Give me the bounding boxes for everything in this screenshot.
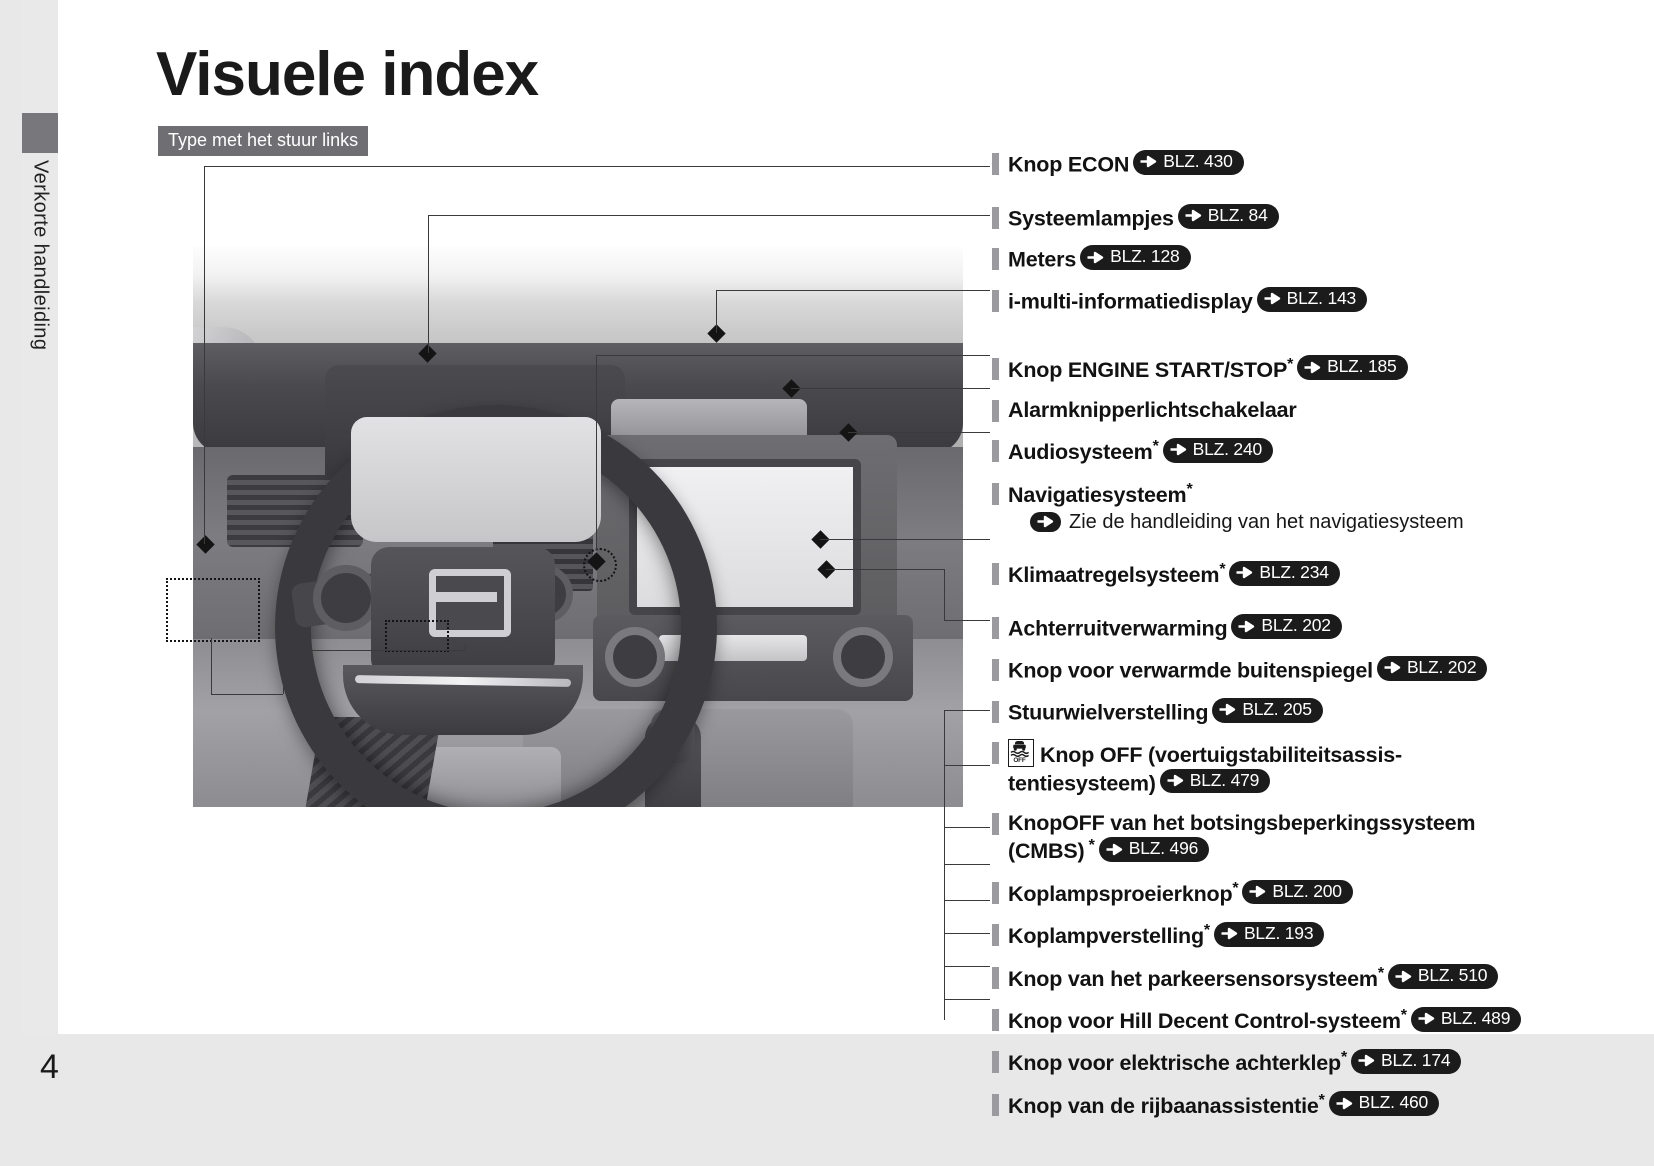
arrow-right-icon (1167, 442, 1189, 457)
callout-text: Knop ECONBLZ. 430 (1008, 150, 1244, 178)
sidebar-chapter-label: Verkorte handleiding (22, 160, 58, 420)
arrow-right-icon (1392, 969, 1414, 984)
callout-tick (992, 617, 999, 639)
callout-label: Achterruitverwarming (1008, 617, 1227, 641)
callout-label: Navigatiesysteem (1008, 483, 1186, 507)
callout-label-line2: (CMBS) (1008, 840, 1084, 864)
callout-knop-off-cmbs[interactable]: KnopOFF van het botsingsbeperkingssystee… (992, 810, 1612, 865)
arrow-right-icon (1084, 250, 1106, 265)
arrow-right-icon (1164, 773, 1186, 788)
page-ref-text: BLZ. 205 (1242, 699, 1311, 721)
callout-text: Koplampsproeierknop*BLZ. 200 (1008, 879, 1353, 907)
page-ref-text: BLZ. 479 (1190, 770, 1259, 792)
page-ref-pill[interactable]: BLZ. 143 (1257, 287, 1367, 312)
callout-text: OFFKnop OFF (voertuigstabiliteitsassis-t… (1008, 739, 1402, 796)
callout-text: Klimaatregelsysteem*BLZ. 234 (1008, 560, 1340, 588)
type-badge: Type met het stuur links (158, 126, 368, 156)
arrow-right-icon (1034, 514, 1056, 529)
callout-label-line1: KnopOFF van het botsingsbeperkingssystee… (1008, 811, 1475, 835)
callout-label-line2: tentiesysteem) (1008, 771, 1156, 795)
leader-econ-horizontal (204, 166, 990, 167)
marker-circle-stuurwiel (583, 548, 617, 582)
page-ref-text: BLZ. 234 (1259, 562, 1328, 584)
leader-vsa-mid-horizontal (283, 650, 465, 651)
leader-imid-horizontal (716, 290, 990, 291)
leader-vsa-mid-vertical (283, 650, 284, 694)
arrow-right-icon (1235, 619, 1257, 634)
callout-meters[interactable]: MetersBLZ. 128 (992, 245, 1612, 273)
callout-tick (992, 813, 999, 835)
leader-alarm-horizontal (791, 388, 990, 389)
airbag-cover (351, 417, 601, 542)
optional-star: * (1287, 356, 1293, 373)
arrow-right-icon (1301, 360, 1323, 375)
callout-tick (992, 924, 999, 946)
callout-label: Alarmknipperlichtschakelaar (1008, 398, 1297, 422)
callout-tick (992, 358, 999, 380)
callout-knop-off-vsa[interactable]: OFFKnop OFF (voertuigstabiliteitsassis-t… (992, 739, 1612, 796)
callout-tick (992, 440, 999, 462)
page-ref-pill[interactable]: BLZ. 174 (1351, 1049, 1461, 1074)
callout-label: Knop voor Hill Decent Control-systeem (1008, 1009, 1401, 1033)
leader-achterruit-vertical (944, 569, 945, 620)
leader-buitenspiegel-horizontal (944, 620, 990, 621)
optional-star: * (1186, 481, 1192, 498)
leader-achterruit-horizontal (826, 569, 944, 570)
page-ref-text: BLZ. 202 (1407, 657, 1476, 679)
page-ref-text: BLZ. 84 (1208, 205, 1268, 227)
callout-audiosysteem[interactable]: Audiosysteem*BLZ. 240 (992, 437, 1612, 465)
callout-label: Koplampverstelling (1008, 924, 1204, 948)
page-ref-text: BLZ. 128 (1110, 246, 1179, 268)
leader-stuurwiel-horizontal (596, 355, 990, 356)
callout-systeemlampjes[interactable]: SysteemlampjesBLZ. 84 (992, 204, 1612, 232)
callout-koplampverstelling[interactable]: Koplampverstelling*BLZ. 193 (992, 921, 1612, 949)
callout-label-line1: Knop OFF (voertuigstabiliteitsassis- (1040, 743, 1402, 767)
page-ref-pill[interactable]: BLZ. 202 (1377, 656, 1487, 681)
callout-koplampsproeierknop[interactable]: Koplampsproeierknop*BLZ. 200 (992, 879, 1612, 907)
callout-achterruitverwarming[interactable]: AchterruitverwarmingBLZ. 202 (992, 614, 1612, 642)
callout-tick (992, 701, 999, 723)
callout-label-list: Knop ECONBLZ. 430 SysteemlampjesBLZ. 84 … (992, 150, 1612, 1119)
callout-navigatiesysteem[interactable]: Navigatiesysteem* (992, 480, 1612, 508)
leader-koplampsproeier-row (944, 827, 990, 828)
callout-tick (992, 882, 999, 904)
page-ref-text: BLZ. 202 (1261, 615, 1330, 637)
climate-knob-right (833, 627, 893, 687)
callout-knop-verwarmde-buitenspiegel[interactable]: Knop voor verwarmde buitenspiegelBLZ. 20… (992, 656, 1612, 684)
arrow-right-icon (1103, 842, 1125, 857)
leader-cmbs-row (944, 765, 990, 766)
callout-text: Knop van het parkeersensorsysteem*BLZ. 5… (1008, 964, 1498, 992)
callout-tick (992, 153, 999, 175)
leader-vsa-left-horizontal (211, 694, 283, 695)
arrow-pill (1030, 512, 1061, 532)
page-ref-text: BLZ. 200 (1272, 881, 1341, 903)
arrow-right-icon (1233, 565, 1255, 580)
leader-achterklep-row (944, 966, 990, 967)
callout-text: Knop van de rijbaanassistentie*BLZ. 460 (1008, 1091, 1439, 1119)
callout-text: Knop voor verwarmde buitenspiegelBLZ. 20… (1008, 656, 1487, 684)
callout-label: Meters (1008, 248, 1076, 272)
callout-text: StuurwielverstellingBLZ. 205 (1008, 698, 1323, 726)
dashboard-photo (158, 212, 978, 826)
vsa-off-icon: OFF (1008, 739, 1034, 767)
leader-rijbaan-row (944, 999, 990, 1000)
callout-label: Stuurwielverstelling (1008, 700, 1208, 724)
page-ref-text: BLZ. 489 (1441, 1008, 1510, 1030)
leader-econ-vertical (204, 166, 205, 544)
callout-text: KnopOFF van het botsingsbeperkingssystee… (1008, 810, 1475, 865)
dashboard-photo-image (193, 247, 963, 807)
leader-klimaat-horizontal (820, 539, 990, 540)
page-ref-text: BLZ. 185 (1327, 356, 1396, 378)
arrow-right-icon (1182, 208, 1204, 223)
callout-tick (992, 563, 999, 585)
optional-star: * (1319, 1092, 1325, 1109)
page-ref-text: BLZ. 460 (1359, 1092, 1428, 1114)
sidebar (22, 0, 58, 1034)
page-ref-pill[interactable]: BLZ. 240 (1163, 438, 1273, 463)
page-ref-pill[interactable]: BLZ. 430 (1133, 150, 1243, 175)
callout-text: AchterruitverwarmingBLZ. 202 (1008, 614, 1342, 642)
callout-tick (992, 1051, 999, 1073)
callout-tick (992, 400, 999, 422)
arrow-right-icon (1246, 884, 1268, 899)
callout-knop-parkeersensorsysteem[interactable]: Knop van het parkeersensorsysteem*BLZ. 5… (992, 964, 1612, 992)
leader-meters-vertical (428, 215, 429, 353)
callout-i-multi-informatiedisplay[interactable]: i-multi-informatiedisplayBLZ. 143 (992, 287, 1612, 315)
page-ref-pill[interactable]: BLZ. 460 (1329, 1091, 1439, 1116)
callout-tick (992, 207, 999, 229)
callout-text: SysteemlampjesBLZ. 84 (1008, 204, 1279, 232)
callout-tick (992, 659, 999, 681)
callout-label: Knop voor verwarmde buitenspiegel (1008, 658, 1373, 682)
callout-label: Koplampsproeierknop (1008, 882, 1232, 906)
callout-tick (992, 290, 999, 312)
callout-text: Knop voor Hill Decent Control-systeem*BL… (1008, 1006, 1521, 1034)
page-ref-pill[interactable]: BLZ. 205 (1212, 698, 1322, 723)
page-ref-text: BLZ. 193 (1244, 923, 1313, 945)
arrow-right-icon (1261, 291, 1283, 306)
callout-knop-rijbaanassistentie[interactable]: Knop van de rijbaanassistentie*BLZ. 460 (992, 1091, 1612, 1119)
page-ref-pill[interactable]: BLZ. 489 (1411, 1007, 1521, 1032)
arrow-right-icon (1333, 1096, 1355, 1111)
leader-stuurwiel-vertical (596, 355, 597, 551)
sidebar-tab-marker (22, 113, 58, 153)
page-ref-pill[interactable]: BLZ. 479 (1160, 769, 1270, 794)
callout-text: Navigatiesysteem* (1008, 480, 1193, 508)
leader-imid-vertical (716, 290, 717, 333)
page-ref-pill[interactable]: BLZ. 128 (1080, 245, 1190, 270)
callout-label: Klimaatregelsysteem (1008, 563, 1219, 587)
page-ref-text: BLZ. 143 (1287, 288, 1356, 310)
optional-star: * (1378, 965, 1384, 982)
arrow-right-icon (1137, 154, 1159, 169)
arrow-right-icon (1355, 1053, 1377, 1068)
leader-meters-horizontal (428, 215, 990, 216)
callout-text: i-multi-informatiedisplayBLZ. 143 (1008, 287, 1367, 315)
callout-text: Alarmknipperlichtschakelaar (1008, 397, 1297, 423)
page-number: 4 (40, 1048, 59, 1087)
leader-koplampverstelling-row (944, 864, 990, 865)
callout-label: i-multi-informatiedisplay (1008, 289, 1253, 313)
leader-vsa-row (944, 710, 990, 711)
page-ref-text: BLZ. 174 (1381, 1050, 1450, 1072)
callout-tick (992, 483, 999, 505)
leader-hdc-row (944, 933, 990, 934)
marker-rect-left-switches (166, 578, 260, 642)
callout-knop-engine-start-stop[interactable]: Knop ENGINE START/STOP*BLZ. 185 (992, 355, 1612, 383)
leader-parkeersensor-row (944, 900, 990, 901)
arrow-right-icon (1218, 926, 1240, 941)
callout-note-text: Zie de handleiding van het navigatiesyst… (1069, 511, 1464, 534)
callout-klimaatregelsysteem[interactable]: Klimaatregelsysteem*BLZ. 234 (992, 560, 1612, 588)
svg-text:OFF: OFF (1013, 757, 1025, 763)
callout-label: Audiosysteem (1008, 440, 1153, 464)
page-ref-pill[interactable]: BLZ. 84 (1178, 204, 1279, 229)
page-ref-pill[interactable]: BLZ. 193 (1214, 922, 1324, 947)
callout-text: Audiosysteem*BLZ. 240 (1008, 437, 1273, 465)
optional-star: * (1153, 438, 1159, 455)
page-ref-text: BLZ. 430 (1163, 151, 1232, 173)
callout-label: Knop voor elektrische achterklep (1008, 1051, 1341, 1075)
callout-text: Knop ENGINE START/STOP*BLZ. 185 (1008, 355, 1408, 383)
page-ref-pill[interactable]: BLZ. 234 (1229, 561, 1339, 586)
page-sheet: Visuele index Type met het stuur links (58, 0, 1654, 1034)
leader-bracket-lower (944, 710, 945, 1020)
callout-tick (992, 1009, 999, 1031)
page-ref-text: BLZ. 496 (1129, 838, 1198, 860)
optional-star: * (1084, 837, 1094, 854)
page-ref-pill[interactable]: BLZ. 510 (1388, 964, 1498, 989)
callout-tick (992, 1094, 999, 1116)
steering-wheel-button-left (313, 565, 379, 631)
callout-label: Knop van de rijbaanassistentie (1008, 1094, 1319, 1118)
page-ref-pill[interactable]: BLZ. 202 (1231, 614, 1341, 639)
callout-text: Knop voor elektrische achterklep*BLZ. 17… (1008, 1048, 1461, 1076)
page-ref-text: BLZ. 240 (1193, 439, 1262, 461)
callout-text: MetersBLZ. 128 (1008, 245, 1191, 273)
callout-label: Knop van het parkeersensorsysteem (1008, 967, 1378, 991)
leader-audio-horizontal (848, 432, 990, 433)
callout-label: Knop ENGINE START/STOP (1008, 358, 1287, 382)
leader-vsa-tick (465, 645, 466, 650)
marker-rect-vsa (385, 620, 449, 652)
arrow-right-icon (1415, 1011, 1437, 1026)
page-ref-pill[interactable]: BLZ. 496 (1099, 837, 1209, 862)
callout-label: Systeemlampjes (1008, 206, 1174, 230)
callout-knop-elektrische-achterklep[interactable]: Knop voor elektrische achterklep*BLZ. 17… (992, 1048, 1612, 1076)
callout-navigatiesysteem-note: Zie de handleiding van het navigatiesyst… (1026, 511, 1612, 534)
optional-star: * (1204, 922, 1210, 939)
callout-tick (992, 967, 999, 989)
callout-text: Koplampverstelling*BLZ. 193 (1008, 921, 1324, 949)
leader-vsa-left-vertical (211, 638, 212, 694)
page-title: Visuele index (156, 44, 538, 106)
callout-alarmknipperlichtschakelaar[interactable]: Alarmknipperlichtschakelaar (992, 397, 1612, 423)
arrow-right-icon (1381, 660, 1403, 675)
callout-knop-econ[interactable]: Knop ECONBLZ. 430 (992, 150, 1612, 178)
sidebar-chapter-label-text: Verkorte handleiding (29, 160, 52, 350)
arrow-right-icon (1216, 702, 1238, 717)
optional-star: * (1219, 561, 1225, 578)
optional-star: * (1232, 880, 1238, 897)
page-ref-pill[interactable]: BLZ. 200 (1242, 880, 1352, 905)
callout-label: Knop ECON (1008, 152, 1129, 176)
page-ref-pill[interactable]: BLZ. 185 (1297, 355, 1407, 380)
optional-star: * (1401, 1007, 1407, 1024)
callout-knop-hill-decent-control[interactable]: Knop voor Hill Decent Control-systeem*BL… (992, 1006, 1612, 1034)
page-ref-text: BLZ. 510 (1418, 965, 1487, 987)
callout-stuurwielverstelling[interactable]: StuurwielverstellingBLZ. 205 (992, 698, 1612, 726)
callout-tick (992, 248, 999, 270)
optional-star: * (1341, 1049, 1347, 1066)
callout-tick (992, 742, 999, 764)
